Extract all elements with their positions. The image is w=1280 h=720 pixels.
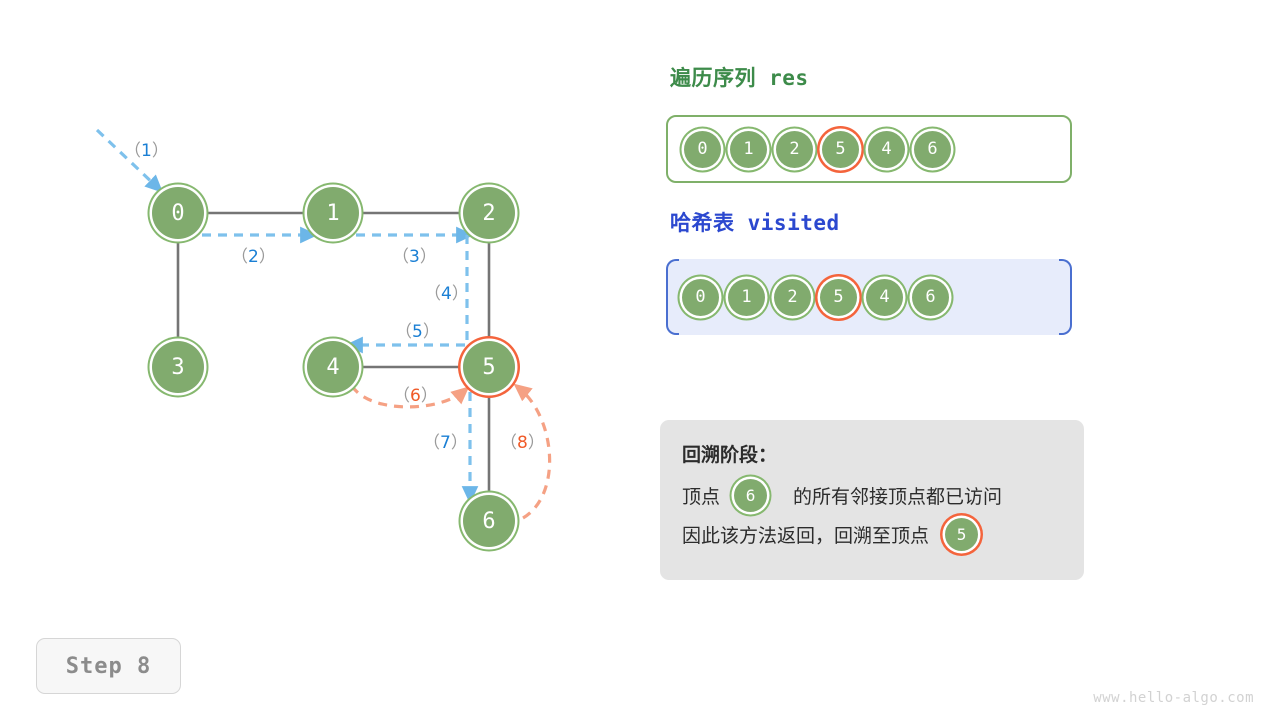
res-item-4[interactable]: 4 <box>868 131 905 168</box>
res-item-0-label: 0 <box>697 139 707 159</box>
visited-item-2[interactable]: 2 <box>774 279 811 316</box>
graph-node-5[interactable]: 5 <box>463 341 515 393</box>
res-item-5-label: 6 <box>927 139 937 159</box>
explanation-line-1: 顶点 6 的所有邻接顶点都已访问 <box>682 479 1062 512</box>
explanation-line-2-prefix: 因此该方法返回，回溯至顶点 <box>682 521 929 548</box>
step-label-3-num: 3 <box>409 247 420 267</box>
arrow-step-8 <box>519 388 550 518</box>
step-label-5: （5） <box>395 317 440 342</box>
step-badge-label: Step 8 <box>66 654 151 679</box>
explanation-card: 回溯阶段： 顶点 6 的所有邻接顶点都已访问 因此该方法返回，回溯至顶点 5 <box>660 420 1084 580</box>
step-label-7: （7） <box>423 428 468 453</box>
step-label-5-num: 5 <box>412 322 423 342</box>
explanation-node-5-label: 5 <box>957 525 967 544</box>
step-label-4: （4） <box>424 279 469 304</box>
visited-item-1[interactable]: 1 <box>728 279 765 316</box>
graph-node-0[interactable]: 0 <box>152 187 204 239</box>
step-label-8-num: 8 <box>517 433 528 453</box>
graph-node-6-label: 6 <box>482 509 495 534</box>
visited-item-4-label: 4 <box>879 287 889 307</box>
explanation-line-1-prefix: 顶点 <box>682 482 720 509</box>
step-label-8: （8） <box>500 428 545 453</box>
step-label-7-num: 7 <box>440 433 451 453</box>
explanation-node-6: 6 <box>734 479 767 512</box>
visited-item-2-label: 2 <box>787 287 797 307</box>
watermark: www.hello-algo.com <box>1093 690 1254 706</box>
res-item-4-label: 4 <box>881 139 891 159</box>
visited-item-1-label: 1 <box>741 287 751 307</box>
graph-node-0-label: 0 <box>171 201 184 226</box>
step-label-1-num: 1 <box>141 141 152 161</box>
explanation-line-2: 因此该方法返回，回溯至顶点 5 <box>682 518 1062 551</box>
step-label-4-num: 4 <box>441 284 452 304</box>
visited-item-5[interactable]: 6 <box>912 279 949 316</box>
forward-arrow-group <box>97 130 470 497</box>
step-badge: Step 8 <box>36 638 181 694</box>
graph-node-4-label: 4 <box>326 355 339 380</box>
res-item-3-label: 5 <box>835 139 845 159</box>
res-item-2-label: 2 <box>789 139 799 159</box>
graph-node-4[interactable]: 4 <box>307 341 359 393</box>
step-label-3: （3） <box>392 242 437 267</box>
res-item-1[interactable]: 1 <box>730 131 767 168</box>
res-item-5[interactable]: 6 <box>914 131 951 168</box>
graph-node-5-label: 5 <box>482 355 495 380</box>
res-item-1-label: 1 <box>743 139 753 159</box>
graph-node-3-label: 3 <box>171 355 184 380</box>
graph-node-1[interactable]: 1 <box>307 187 359 239</box>
res-array-box: 0 1 2 5 4 6 <box>666 115 1072 183</box>
step-label-2-num: 2 <box>248 247 259 267</box>
visited-item-4[interactable]: 4 <box>866 279 903 316</box>
explanation-heading: 回溯阶段： <box>682 440 1062 467</box>
graph-edges-and-arrows <box>0 0 640 640</box>
res-item-2[interactable]: 2 <box>776 131 813 168</box>
graph-diagram: 0 1 2 3 4 5 6 （1） （2） （3） （4） <box>0 0 640 640</box>
graph-node-1-label: 1 <box>326 201 339 226</box>
step-label-2: （2） <box>231 242 276 267</box>
explanation-node-6-label: 6 <box>746 486 756 505</box>
graph-node-2-label: 2 <box>482 201 495 226</box>
explanation-node-5: 5 <box>945 518 978 551</box>
explanation-line-1-suffix: 的所有邻接顶点都已访问 <box>793 482 1002 509</box>
visited-item-0[interactable]: 0 <box>682 279 719 316</box>
graph-node-2[interactable]: 2 <box>463 187 515 239</box>
slide-canvas: 0 1 2 3 4 5 6 （1） （2） （3） （4） <box>0 0 1280 720</box>
step-label-1: （1） <box>124 136 169 161</box>
visited-item-0-label: 0 <box>695 287 705 307</box>
step-label-6-num: 6 <box>410 386 421 406</box>
res-item-0[interactable]: 0 <box>684 131 721 168</box>
res-panel-title: 遍历序列 res <box>670 62 809 92</box>
visited-item-5-label: 6 <box>925 287 935 307</box>
graph-node-3[interactable]: 3 <box>152 341 204 393</box>
res-item-3[interactable]: 5 <box>822 131 859 168</box>
graph-node-6[interactable]: 6 <box>463 495 515 547</box>
visited-item-3[interactable]: 5 <box>820 279 857 316</box>
visited-item-3-label: 5 <box>833 287 843 307</box>
visited-hashset-box: 0 1 2 5 4 6 <box>666 259 1072 335</box>
step-label-6: （6） <box>393 381 438 406</box>
visited-panel-title: 哈希表 visited <box>670 207 840 237</box>
